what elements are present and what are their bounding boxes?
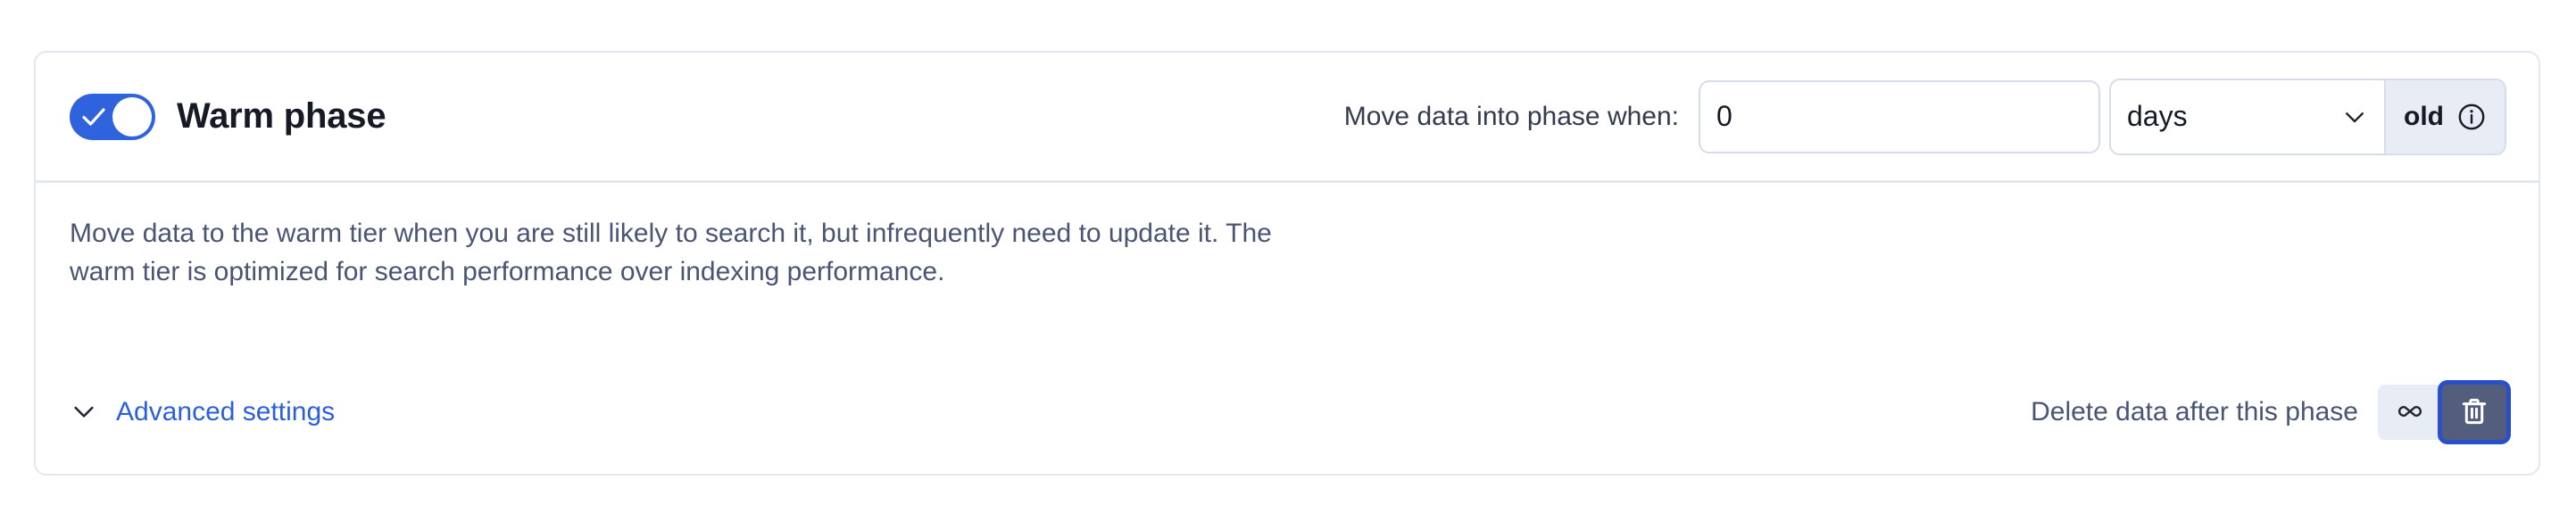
phase-header-left: Warm phase xyxy=(70,94,386,140)
warm-phase-card: Warm phase Move data into phase when: da… xyxy=(34,51,2540,476)
infinity-icon xyxy=(2393,394,2427,431)
delete-data-controls: Delete data after this phase xyxy=(2031,385,2506,440)
timing-units-select[interactable]: days xyxy=(2111,80,2384,153)
delete-data-button[interactable] xyxy=(2442,385,2506,440)
timing-label: Move data into phase when: xyxy=(1344,102,1679,132)
timing-units-append: old xyxy=(2384,80,2505,153)
phase-header: Warm phase Move data into phase when: da… xyxy=(36,53,2539,183)
delete-data-button-group xyxy=(2378,385,2506,440)
phase-footer: Advanced settings Delete data after this… xyxy=(70,385,2506,440)
info-circle-icon[interactable] xyxy=(2456,102,2487,132)
advanced-settings-label: Advanced settings xyxy=(116,397,335,427)
chevron-down-icon xyxy=(2341,104,2368,130)
trash-icon xyxy=(2458,395,2490,430)
phase-timing-controls: Move data into phase when: days old xyxy=(1344,79,2506,155)
timing-append-label: old xyxy=(2404,102,2444,132)
phase-description: Move data to the warm tier when you are … xyxy=(70,215,1292,291)
phase-body: Move data to the warm tier when you are … xyxy=(36,183,2539,472)
page-root: Warm phase Move data into phase when: da… xyxy=(0,0,2576,530)
chevron-down-icon xyxy=(70,397,98,428)
toggle-knob xyxy=(112,97,152,137)
keep-data-forever-button[interactable] xyxy=(2378,385,2442,440)
delete-data-label: Delete data after this phase xyxy=(2031,397,2358,427)
check-icon xyxy=(82,106,105,128)
page-title: Warm phase xyxy=(177,96,386,137)
warm-phase-toggle[interactable] xyxy=(70,94,155,140)
timing-value-input[interactable] xyxy=(1699,80,2100,153)
advanced-settings-toggle[interactable]: Advanced settings xyxy=(70,397,335,428)
timing-units-group: days old xyxy=(2109,79,2506,155)
timing-units-value: days xyxy=(2127,100,2188,133)
